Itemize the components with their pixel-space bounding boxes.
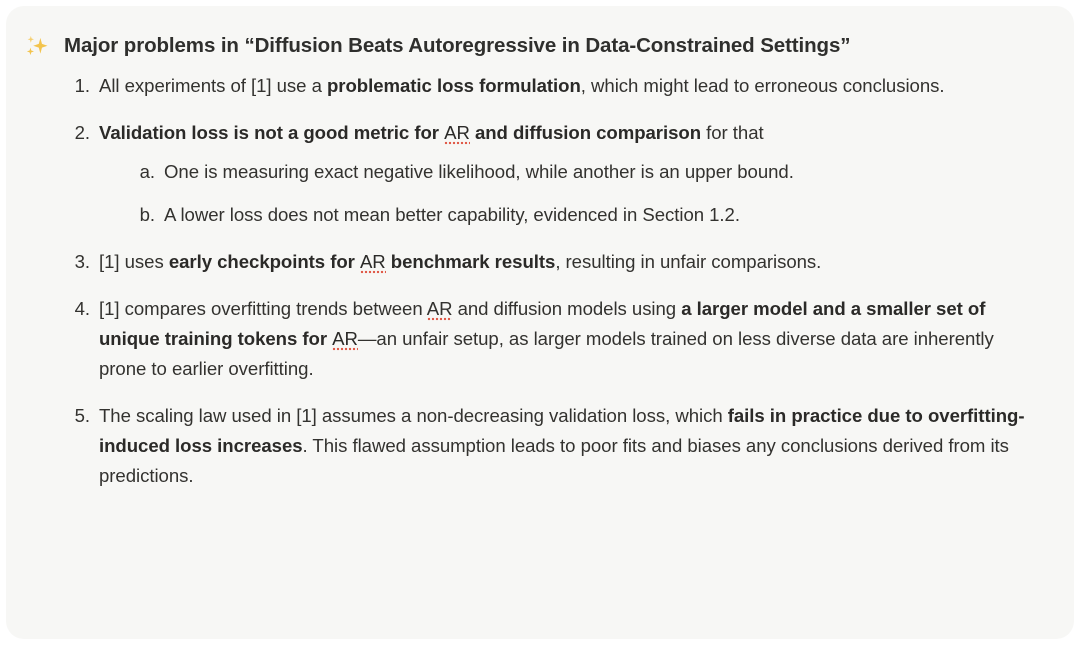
text-run: Validation loss is not a good metric for (99, 122, 444, 143)
spellcheck-misspelled-word: AR (427, 298, 453, 322)
spellcheck-misspelled-word: AR (444, 122, 470, 146)
list-item-text: [1] uses early checkpoints for AR benchm… (99, 251, 821, 275)
sub-list: a.One is measuring exact negative likeli… (99, 157, 1040, 230)
list-item: 1.All experiments of [1] use a problemat… (64, 71, 1040, 101)
list-item-marker: 1. (64, 71, 90, 101)
text-run: One is measuring exact negative likeliho… (164, 161, 794, 182)
text-run: for that (701, 122, 764, 143)
sub-list-item: a.One is measuring exact negative likeli… (131, 157, 1040, 187)
list-item-marker: 2. (64, 118, 90, 148)
text-run: The scaling law used in [1] assumes a no… (99, 405, 728, 426)
response-card: Major problems in “Diffusion Beats Autor… (6, 6, 1074, 639)
text-run: and diffusion models using (452, 298, 681, 319)
list-item-marker: 5. (64, 401, 90, 431)
list-item-text: The scaling law used in [1] assumes a no… (99, 405, 1024, 486)
page-title: Major problems in “Diffusion Beats Autor… (64, 32, 850, 60)
text-run: , which might lead to erroneous conclusi… (581, 75, 945, 96)
spellcheck-misspelled-word: AR (332, 328, 358, 352)
text-run: , resulting in unfair comparisons. (555, 251, 821, 272)
text-run: early checkpoints for (169, 251, 360, 272)
sub-list-item: b.A lower loss does not mean better capa… (131, 200, 1040, 230)
sub-list-item-marker: a. (131, 157, 155, 187)
list-item: 5.The scaling law used in [1] assumes a … (64, 401, 1040, 491)
card-content: Major problems in “Diffusion Beats Autor… (6, 6, 1074, 518)
text-run: problematic loss formulation (327, 75, 581, 96)
text-run: benchmark results (386, 251, 556, 272)
text-run: A lower loss does not mean better capabi… (164, 204, 740, 225)
list-item-text: Validation loss is not a good metric for… (99, 122, 764, 146)
text-run: [1] compares overfitting trends between (99, 298, 427, 319)
problem-list: 1.All experiments of [1] use a problemat… (22, 71, 1040, 491)
list-item: 3.[1] uses early checkpoints for AR benc… (64, 247, 1040, 277)
text-run: All experiments of [1] use a (99, 75, 327, 96)
spellcheck-misspelled-word: AR (360, 251, 386, 275)
list-item-marker: 4. (64, 294, 90, 324)
sub-list-item-text: A lower loss does not mean better capabi… (164, 204, 740, 225)
text-run: and diffusion comparison (470, 122, 701, 143)
text-run: [1] uses (99, 251, 169, 272)
list-item-marker: 3. (64, 247, 90, 277)
header-row: Major problems in “Diffusion Beats Autor… (22, 32, 1040, 63)
sub-list-item-text: One is measuring exact negative likeliho… (164, 161, 794, 182)
sub-list-item-marker: b. (131, 200, 155, 230)
list-item-text: All experiments of [1] use a problematic… (99, 75, 944, 96)
list-item: 4.[1] compares overfitting trends betwee… (64, 294, 1040, 384)
list-item-text: [1] compares overfitting trends between … (99, 298, 994, 379)
sparkle-icon (22, 33, 52, 63)
list-item: 2.Validation loss is not a good metric f… (64, 118, 1040, 230)
